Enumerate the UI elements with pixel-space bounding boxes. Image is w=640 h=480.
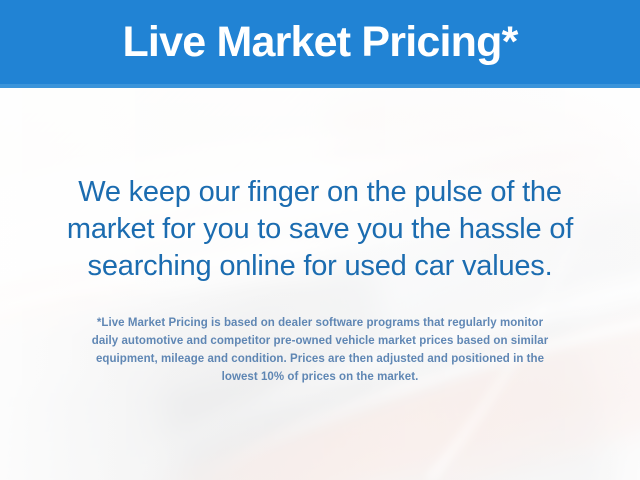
header-banner-underline — [0, 84, 640, 88]
headline-line-1: We keep our finger on the pulse of the — [20, 174, 620, 211]
page-title: Live Market Pricing* — [122, 21, 517, 67]
disclaimer-line-4: lowest 10% of prices on the market. — [25, 368, 615, 386]
headline: We keep our finger on the pulse of the m… — [20, 174, 620, 285]
disclaimer-line-1: *Live Market Pricing is based on dealer … — [25, 314, 615, 332]
content-area: We keep our finger on the pulse of the m… — [0, 88, 640, 480]
disclaimer-text: *Live Market Pricing is based on dealer … — [25, 314, 615, 386]
disclaimer-line-2: daily automotive and competitor pre-owne… — [25, 332, 615, 350]
headline-line-3: searching online for used car values. — [20, 248, 620, 285]
headline-line-2: market for you to save you the hassle of — [20, 211, 620, 248]
live-market-pricing-graphic: Live Market Pricing* We keep our finger … — [0, 0, 640, 480]
header-banner: Live Market Pricing* — [0, 0, 640, 88]
disclaimer-line-3: equipment, mileage and condition. Prices… — [25, 350, 615, 368]
